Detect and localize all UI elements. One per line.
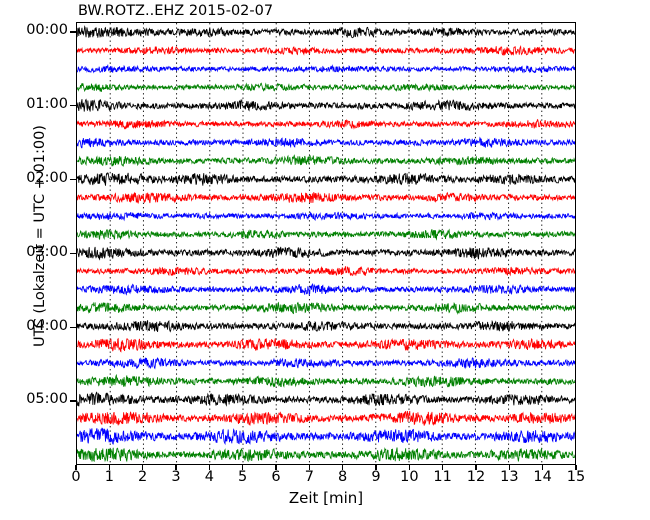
seismogram-trace <box>77 65 575 72</box>
x-axis-label: Zeit [min] <box>76 489 576 507</box>
seismogram-trace <box>77 320 575 332</box>
y-axis-tick-label: 00:00 <box>6 22 68 38</box>
x-axis-tick-labels: 0123456789101112131415 <box>0 469 650 491</box>
x-axis-tick-mark <box>75 465 76 470</box>
seismogram-trace <box>77 120 575 129</box>
y-axis-tick-label: 02:00 <box>6 170 68 186</box>
y-axis-tick-mark <box>70 105 76 106</box>
x-axis-tick-mark <box>509 465 510 470</box>
y-axis-tick-label: 04:00 <box>6 318 68 334</box>
seismogram-trace <box>77 411 575 426</box>
y-axis-tick-mark <box>70 253 76 254</box>
seismogram-trace <box>77 27 575 38</box>
x-axis-tick-mark <box>342 465 343 470</box>
y-axis-tick-mark <box>70 179 76 180</box>
x-axis-tick-mark <box>242 465 243 470</box>
seismogram-trace <box>77 46 575 55</box>
y-axis-tick-mark <box>70 400 76 401</box>
seismogram-trace <box>77 428 575 444</box>
x-axis-tick-mark <box>375 465 376 470</box>
seismogram-trace <box>77 358 575 369</box>
x-axis-tick-mark <box>209 465 210 470</box>
x-axis-tick-mark <box>542 465 543 470</box>
y-axis-tick-mark <box>70 31 76 32</box>
seismogram-trace <box>77 247 575 259</box>
seismogram-trace <box>77 447 575 461</box>
plot-area <box>76 22 576 465</box>
seismogram-trace <box>77 173 575 186</box>
x-axis-tick-label: 15 <box>556 469 596 485</box>
seismogram-trace <box>77 138 575 148</box>
seismogram-trace <box>77 229 575 239</box>
x-axis-tick-mark <box>175 465 176 470</box>
seismogram-figure: BW.ROTZ..EHZ 2015-02-07 UTC (Lokalzeit =… <box>0 0 650 520</box>
y-axis-tick-label: 01:00 <box>6 96 68 112</box>
seismogram-trace <box>77 375 575 387</box>
seismogram-trace <box>77 212 575 220</box>
seismogram-trace <box>77 192 575 203</box>
x-axis-tick-mark <box>575 465 576 470</box>
x-axis-tick-mark <box>442 465 443 470</box>
seismogram-trace <box>77 99 575 111</box>
seismogram-trace <box>77 284 575 295</box>
x-axis-tick-mark <box>142 465 143 470</box>
x-axis-tick-mark <box>475 465 476 470</box>
y-axis-tick-mark <box>70 327 76 328</box>
seismogram-trace <box>77 155 575 166</box>
y-axis-tick-labels: 00:0001:0002:0003:0004:0005:00 <box>0 0 68 520</box>
plot-title: BW.ROTZ..EHZ 2015-02-07 <box>78 3 273 20</box>
x-axis-tick-mark <box>109 465 110 470</box>
y-axis-tick-label: 05:00 <box>6 391 68 407</box>
y-axis-tick-label: 03:00 <box>6 244 68 260</box>
seismogram-trace <box>77 338 575 351</box>
seismogram-traces <box>77 23 575 464</box>
seismogram-trace <box>77 392 575 406</box>
seismogram-trace <box>77 266 575 275</box>
x-axis-tick-mark <box>409 465 410 470</box>
x-axis-tick-mark <box>309 465 310 470</box>
seismogram-trace <box>77 302 575 314</box>
x-axis-tick-mark <box>275 465 276 470</box>
seismogram-trace <box>77 83 575 91</box>
